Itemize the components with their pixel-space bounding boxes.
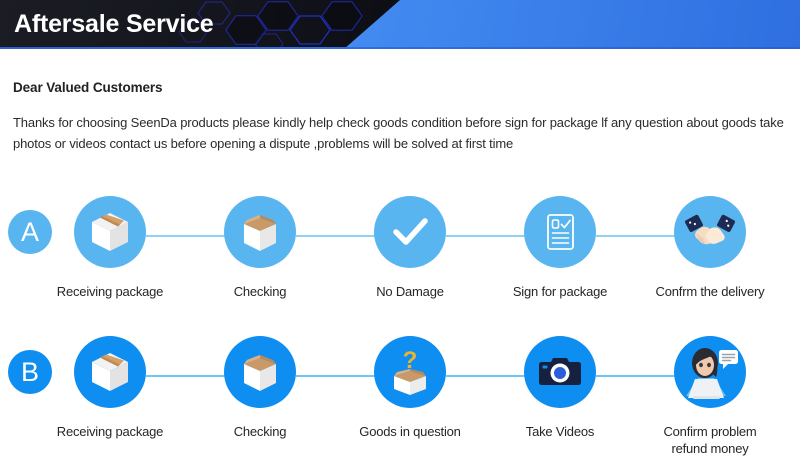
step-a-receiving-package: Receiving package — [35, 196, 185, 300]
step-b-confirm-problem-refund: Confirm problem refund money — [635, 336, 785, 457]
header-underline — [0, 47, 800, 49]
step-label-a-1: Receiving package — [57, 283, 163, 300]
step-circle-b-2 — [224, 336, 296, 408]
step-label-a-3: No Damage — [376, 283, 444, 300]
step-a-confirm-delivery: Confrm the delivery — [635, 196, 785, 300]
signed-document-icon — [536, 208, 584, 256]
step-a-checking: Checking — [185, 196, 335, 300]
salutation-text: Dear Valued Customers — [13, 80, 162, 95]
step-circle-a-2 — [224, 196, 296, 268]
step-label-a-4: Sign for package — [513, 283, 607, 300]
step-circle-a-4 — [524, 196, 596, 268]
question-box-icon: ? — [383, 345, 437, 399]
step-label-b-5: Confirm problem refund money — [663, 423, 756, 457]
open-box-icon — [234, 346, 286, 398]
header-dark-panel: Aftersale Service — [0, 0, 400, 49]
step-label-b-1: Receiving package — [57, 423, 163, 440]
open-box-icon — [234, 206, 286, 258]
step-a-no-damage: No Damage — [335, 196, 485, 300]
step-label-b-2: Checking — [234, 423, 287, 440]
handshake-icon — [683, 205, 737, 259]
step-circle-b-5 — [674, 336, 746, 408]
step-label-a-2: Checking — [234, 283, 287, 300]
step-label-a-5: Confrm the delivery — [656, 283, 765, 300]
step-label-b-3: Goods in question — [359, 423, 460, 440]
closed-box-icon — [84, 346, 136, 398]
flow-row-b: B Receiving package — [0, 336, 800, 466]
step-b-checking: Checking — [185, 336, 335, 440]
support-agent-icon — [674, 336, 746, 408]
closed-box-icon — [84, 206, 136, 258]
step-circle-b-1 — [74, 336, 146, 408]
camera-icon — [535, 347, 585, 397]
intro-paragraph: Thanks for choosing SeenDa products plea… — [13, 112, 785, 154]
step-label-b-4: Take Videos — [526, 423, 594, 440]
step-circle-a-1 — [74, 196, 146, 268]
check-mark-icon — [387, 209, 433, 255]
step-circle-a-5 — [674, 196, 746, 268]
page-header: Aftersale Service — [0, 0, 800, 49]
step-b-receiving-package: Receiving package — [35, 336, 185, 440]
step-circle-b-3: ? — [374, 336, 446, 408]
flow-row-a: A Receiving package — [0, 196, 800, 326]
step-a-sign-for-package: Sign for package — [485, 196, 635, 300]
step-circle-b-4 — [524, 336, 596, 408]
step-b-take-videos: Take Videos — [485, 336, 635, 440]
step-circle-a-3 — [374, 196, 446, 268]
aftersale-service-infographic: Aftersale Service Dear Valued Customers … — [0, 0, 800, 473]
page-title: Aftersale Service — [14, 8, 214, 40]
step-b-goods-in-question: ? Goods in question — [335, 336, 485, 440]
